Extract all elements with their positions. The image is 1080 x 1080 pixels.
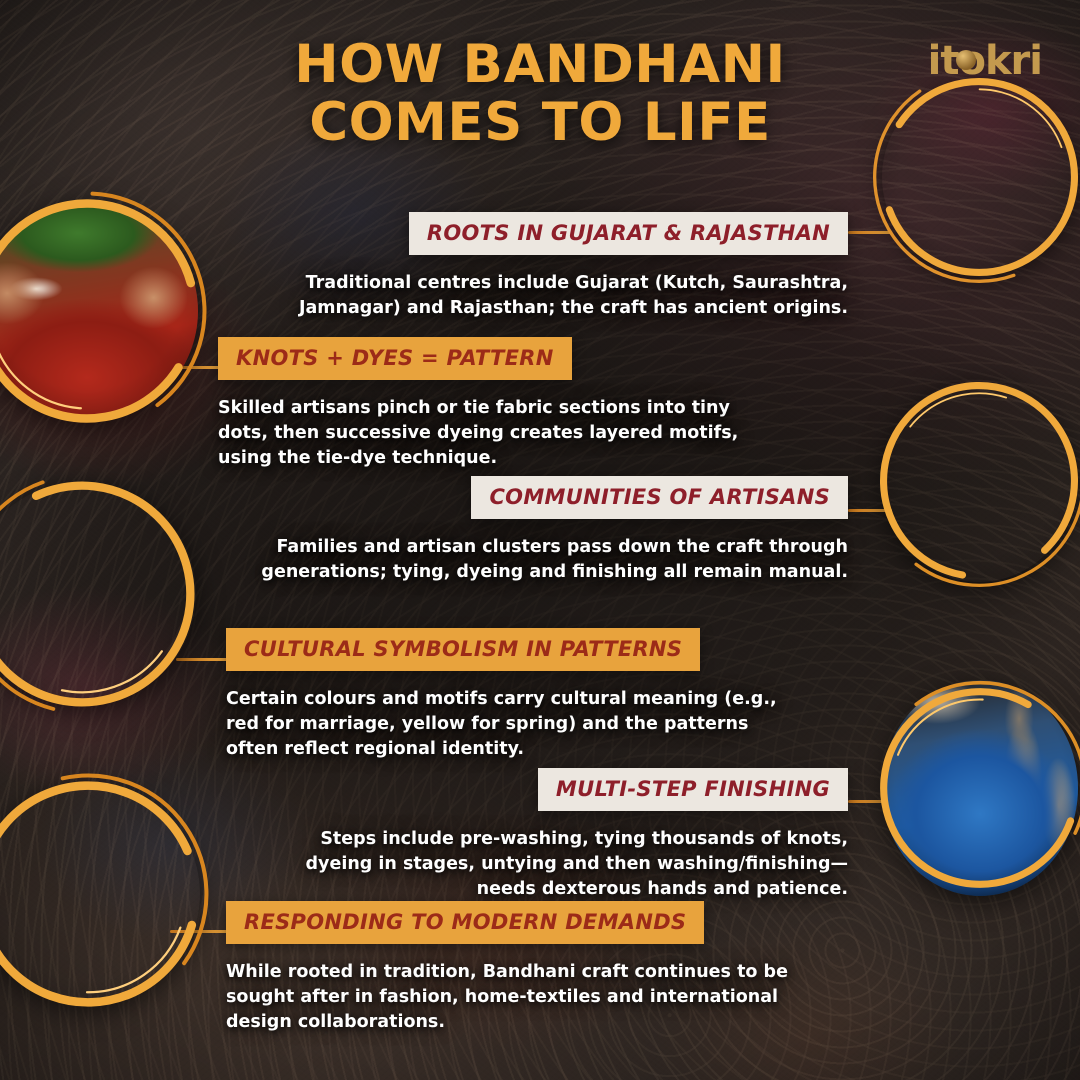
section-body-5: Steps include pre-washing, tying thousan… (300, 827, 848, 902)
photo-disc (0, 782, 200, 1006)
section-knots-dyes-pattern: KNOTS + DYES = PATTERN Skilled artisans … (218, 337, 763, 471)
infographic-poster: itokri HOW BANDHANI COMES TO LIFE (0, 0, 1080, 1080)
section-heading-3: COMMUNITIES OF ARTISANS (471, 476, 848, 519)
page-title: HOW BANDHANI COMES TO LIFE (0, 36, 1080, 153)
section-heading-6: RESPONDING TO MODERN DEMANDS (226, 901, 704, 944)
photo-woman-tying-knots-seated (0, 468, 210, 720)
section-heading-5: MULTI-STEP FINISHING (538, 768, 848, 811)
section-communities-of-artisans: COMMUNITIES OF ARTISANS Families and art… (240, 476, 848, 585)
title-line-1: HOW BANDHANI (294, 34, 786, 95)
section-responding-to-modern-demands: RESPONDING TO MODERN DEMANDS While roote… (226, 901, 806, 1035)
photo-shade (0, 782, 200, 1006)
photo-disc (882, 380, 1076, 582)
section-body-1: Traditional centres include Gujarat (Kut… (236, 271, 848, 321)
section-body-3: Families and artisan clusters pass down … (240, 535, 848, 585)
section-roots-in-gujarat-rajasthan: ROOTS IN GUJARAT & RAJASTHAN Traditional… (236, 212, 848, 321)
photo-shade (0, 482, 196, 706)
photo-shade (882, 680, 1078, 896)
photo-shade (0, 200, 198, 422)
photo-disc (882, 680, 1078, 896)
section-heading-4: CULTURAL SYMBOLISM IN PATTERNS (226, 628, 700, 671)
title-line-2: COMES TO LIFE (170, 94, 910, 152)
brand-logo[interactable]: itokri (928, 38, 1042, 84)
section-cultural-symbolism-in-patterns: CULTURAL SYMBOLISM IN PATTERNS Certain c… (226, 628, 786, 762)
photo-disc (0, 482, 196, 706)
photo-artisan-blue-dye-vat (868, 366, 1080, 596)
photo-indigo-vat-yellow-fabric (868, 666, 1080, 910)
photo-hands-tying-red-fabric (0, 186, 212, 436)
photo-dyer-lifting-yellow-fabric (0, 768, 214, 1020)
brand-logo-text: itokri (928, 38, 1042, 84)
photo-disc (0, 200, 198, 422)
logo-dot-icon (956, 50, 976, 70)
section-multi-step-finishing: MULTI-STEP FINISHING Steps include pre-w… (300, 768, 848, 902)
section-body-6: While rooted in tradition, Bandhani craf… (226, 960, 806, 1035)
section-heading-2: KNOTS + DYES = PATTERN (218, 337, 572, 380)
section-body-2: Skilled artisans pinch or tie fabric sec… (218, 396, 763, 471)
photo-shade (882, 380, 1076, 582)
section-heading-1: ROOTS IN GUJARAT & RAJASTHAN (409, 212, 848, 255)
section-body-4: Certain colours and motifs carry cultura… (226, 687, 786, 762)
